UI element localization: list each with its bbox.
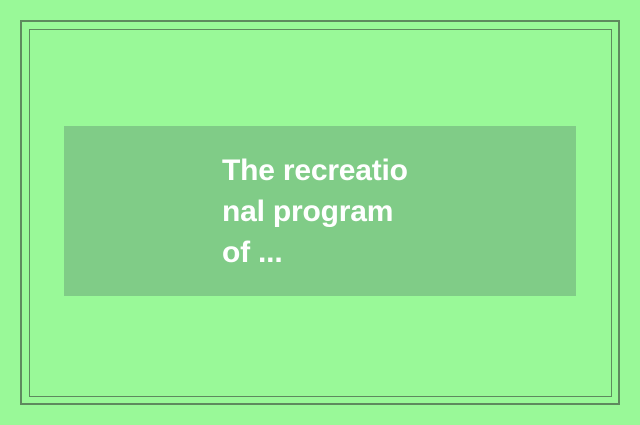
headline-banner: The recreational program of ... (64, 126, 576, 296)
screenshot-canvas: The recreational program of ... (0, 0, 640, 425)
headline-text: The recreational program of ... (222, 150, 418, 273)
